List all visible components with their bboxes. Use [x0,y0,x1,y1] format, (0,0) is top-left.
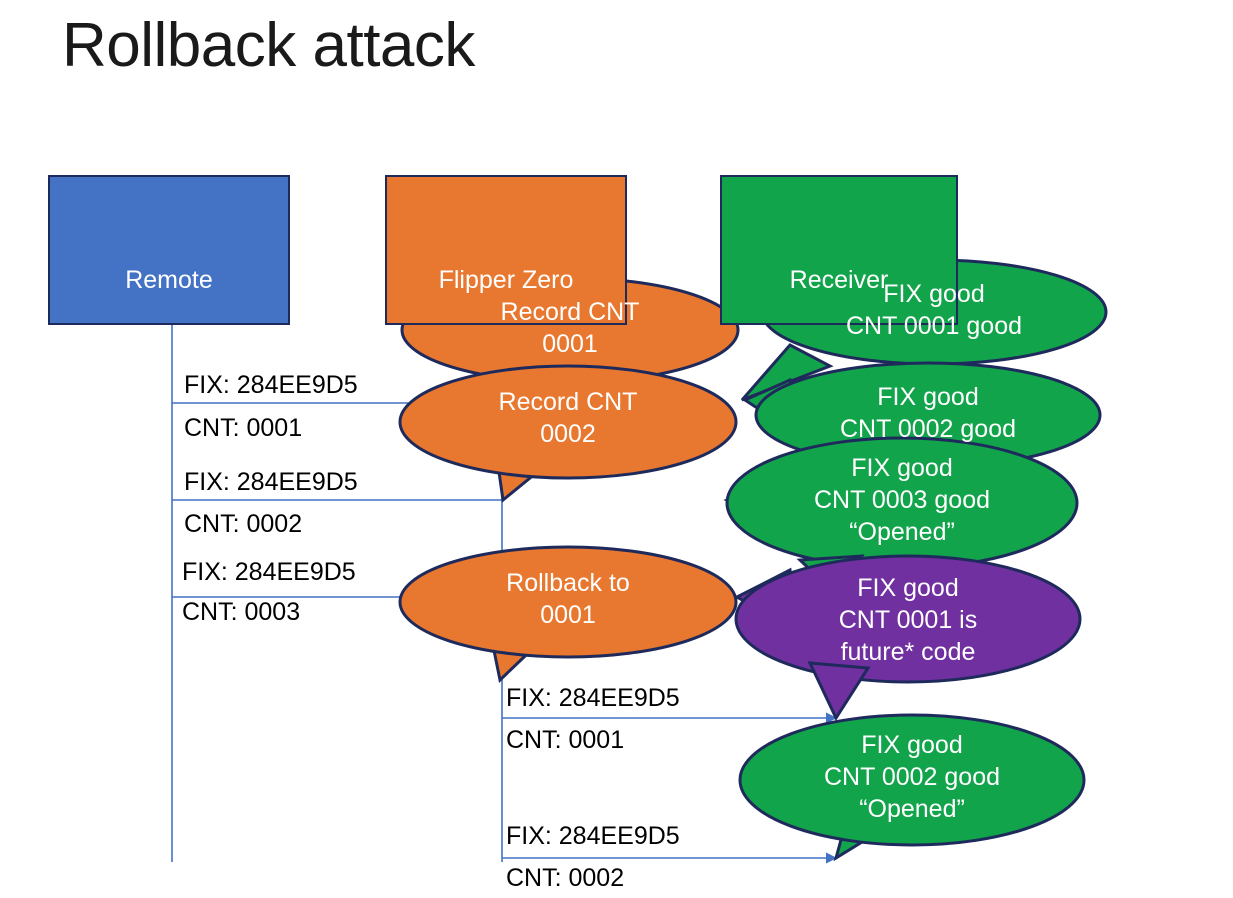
bubble-b6-line-2: CNT 0003 good [727,484,1077,516]
message-label-m5-cnt: CNT: 0002 [506,866,624,891]
message-label-m1-fix: FIX: 284EE9D5 [184,373,358,398]
bubble-b4-line-1: FIX good [762,278,1106,310]
bubble-b7-line-1: FIX good [736,572,1080,604]
bubble-b7-line-2: CNT 0001 is [736,604,1080,636]
message-label-m4-cnt: CNT: 0001 [506,728,624,753]
message-label-m1-cnt: CNT: 0001 [184,416,302,441]
actor-label-remote: Remote [125,205,213,295]
bubble-b4-line-2: CNT 0001 good [762,310,1106,342]
bubble-b8-line-2: CNT 0002 good [740,761,1084,793]
bubble-b8-line-1: FIX good [740,729,1084,761]
bubble-b2-line-1: Record CNT [400,386,736,418]
bubble-b7-line-3: future* code [736,636,1080,668]
bubble-text-b8: FIX good CNT 0002 good “Opened” [740,715,1084,845]
actor-box-remote[interactable]: Remote [48,175,290,325]
bubble-b1-line-1: Record CNT [402,296,738,328]
bubble-b3-line-1: Rollback to [400,567,736,599]
slide-canvas: Rollback attack [0,0,1233,898]
message-label-m3-fix: FIX: 284EE9D5 [182,560,356,585]
bubble-b8-line-3: “Opened” [740,793,1084,825]
bubble-b6-line-1: FIX good [727,452,1077,484]
message-label-m3-cnt: CNT: 0003 [182,600,300,625]
bubble-b3-line-2: 0001 [400,599,736,631]
bubble-text-b3: Rollback to 0001 [400,547,736,657]
bubble-text-b4: FIX good CNT 0001 good [762,260,1106,364]
bubble-b6-line-3: “Opened” [727,516,1077,548]
bubble-text-b2: Record CNT 0002 [400,366,736,478]
bubble-b1-line-2: 0001 [402,328,738,360]
bubble-text-b6: FIX good CNT 0003 good “Opened” [727,438,1077,568]
message-label-m2-cnt: CNT: 0002 [184,512,302,537]
bubble-text-b7: FIX good CNT 0001 is future* code [736,556,1080,682]
message-label-m5-fix: FIX: 284EE9D5 [506,824,680,849]
message-label-m4-fix: FIX: 284EE9D5 [506,686,680,711]
message-label-m2-fix: FIX: 284EE9D5 [184,470,358,495]
bubble-b5-line-1: FIX good [756,381,1100,413]
bubble-b2-line-2: 0002 [400,418,736,450]
